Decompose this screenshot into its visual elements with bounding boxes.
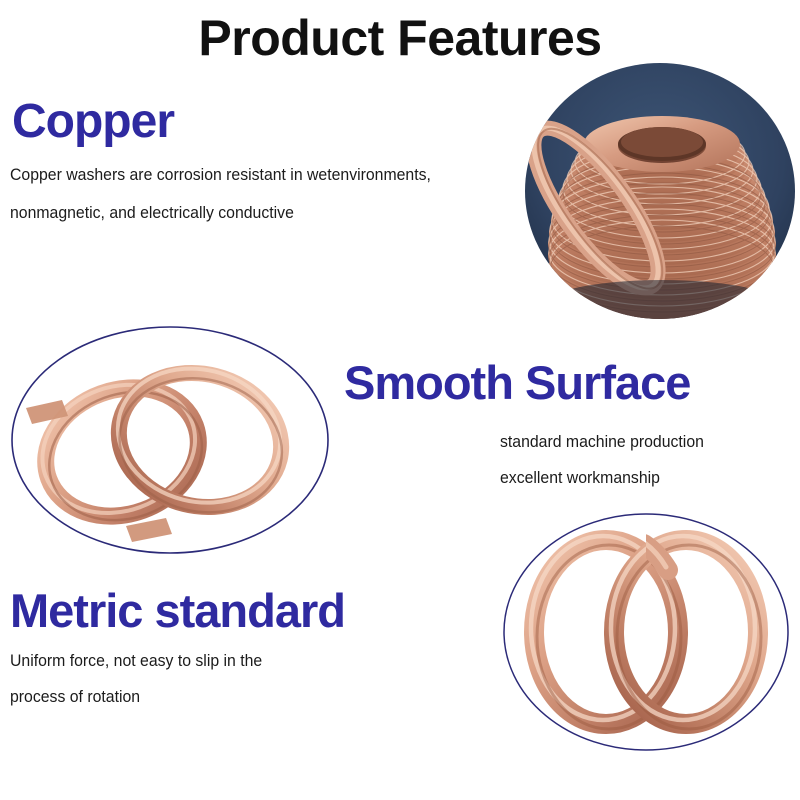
photo-copper-washer-stack [522,58,798,320]
feature-text-metric-standard-line-2: process of rotation [10,687,140,707]
photo-copper-washer-pair [4,312,336,568]
photo-copper-washer-interlocked [494,508,798,756]
feature-text-copper-line-2: nonmagnetic, and electrically conductive [10,203,294,223]
feature-text-smooth-surface-line-2: excellent workmanship [500,468,660,488]
feature-heading-smooth-surface: Smooth Surface [344,358,690,408]
feature-heading-metric-standard: Metric standard [10,586,345,636]
copper-washer-stack-image [522,58,798,320]
page-title: Product Features [0,12,800,64]
feature-text-metric-standard-line-1: Uniform force, not easy to slip in the [10,651,262,671]
copper-washer-pair-image [4,312,336,568]
product-features-infographic: Product Features Copper Copper washers a… [0,0,800,800]
feature-text-smooth-surface-line-1: standard machine production [500,432,704,452]
feature-text-copper-line-1: Copper washers are corrosion resistant i… [10,165,431,185]
feature-heading-copper: Copper [12,97,174,147]
copper-washer-interlocked-image [494,508,798,756]
